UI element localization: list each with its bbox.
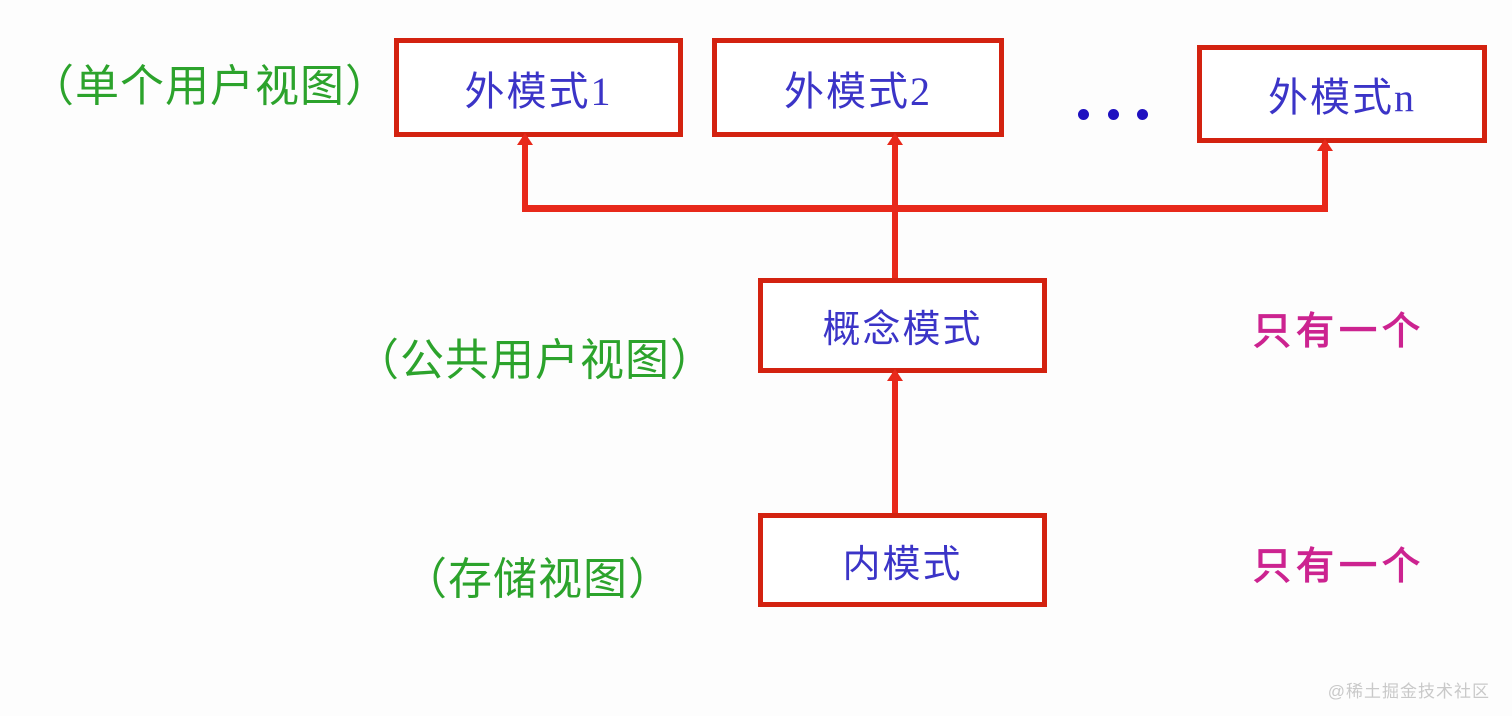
external-schema-box-1: 外模式1 <box>394 38 683 137</box>
arrowhead-icon-right <box>1317 139 1333 151</box>
diagram-canvas: （单个用户视图） （公共用户视图） （存储视图） 外模式1 外模式2 外模式n … <box>0 0 1512 716</box>
connector-conceptual-internal <box>892 373 898 516</box>
ellipsis-icon <box>1078 100 1148 128</box>
annotation-conceptual-count: 只有一个 <box>1253 300 1425 355</box>
arrowhead-icon-center <box>887 133 903 145</box>
arrowhead-icon-middle <box>887 369 903 381</box>
view-label-storage: （存储视图） <box>403 543 673 607</box>
connector-stub-right <box>1322 143 1328 211</box>
watermark: @稀土掘金技术社区 <box>1328 677 1490 702</box>
view-label-single-user: （单个用户视图） <box>30 50 390 114</box>
external-schema-box-2: 外模式2 <box>712 38 1004 137</box>
external-schema-box-n: 外模式n <box>1197 45 1487 143</box>
view-label-public-user: （公共用户视图） <box>355 324 715 388</box>
connector-bus-line <box>522 205 1328 212</box>
ellipsis-dot <box>1137 109 1148 120</box>
conceptual-schema-box: 概念模式 <box>758 278 1047 373</box>
ellipsis-dot <box>1108 109 1119 120</box>
internal-schema-box: 内模式 <box>758 513 1047 607</box>
connector-stub-left <box>522 137 528 211</box>
arrowhead-icon-left <box>517 133 533 145</box>
ellipsis-dot <box>1078 109 1089 120</box>
annotation-internal-count: 只有一个 <box>1253 535 1425 590</box>
